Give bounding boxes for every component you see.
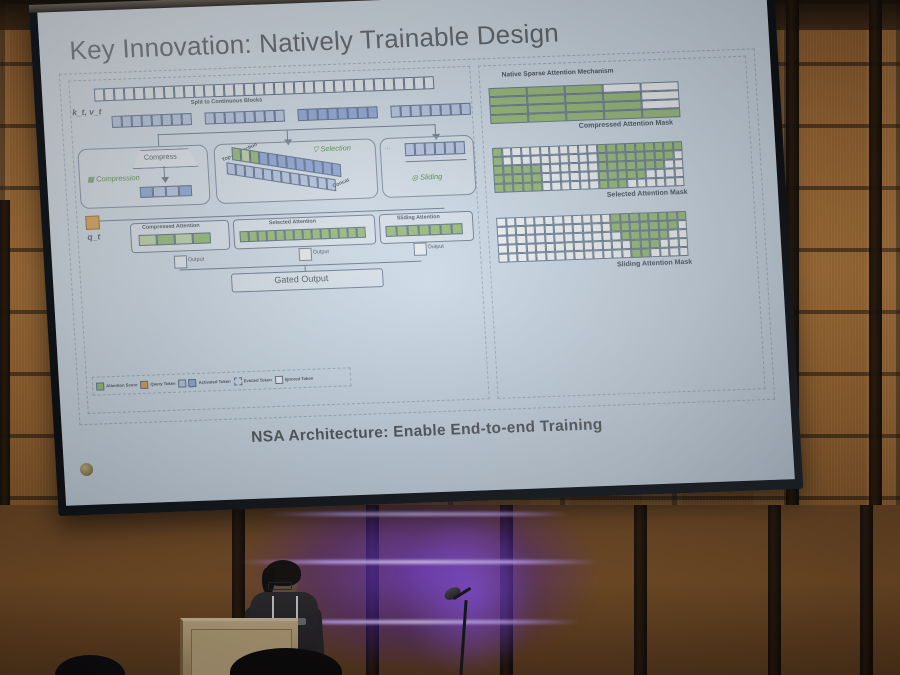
speaker-hair-side: [262, 568, 274, 594]
legend-swatch-orange: [140, 380, 148, 388]
gated-output-label: Gated Output: [274, 273, 329, 285]
compress-node-label: Compress: [144, 152, 177, 162]
query-token: [85, 215, 100, 229]
sliding-label: ◎ Sliding: [411, 172, 442, 182]
led-strip: [268, 512, 568, 516]
attention-mask-panel: Native Sparse Attention Mechanism Compre…: [478, 56, 765, 399]
purple-accent-light-core: [395, 520, 545, 670]
selection-label-text: Selection: [320, 143, 351, 153]
grid-icon: ▦: [87, 175, 95, 184]
block-group-1: [111, 113, 192, 128]
legend-label: Activated Token: [198, 379, 230, 385]
stage-mullion: [768, 505, 781, 675]
split-blocks-label: Split to Continuous Blocks: [191, 97, 263, 106]
legend-swatch-blue-light: [178, 379, 186, 387]
legend-swatch-white: [275, 375, 283, 383]
sliding-attention-mask: [496, 211, 689, 263]
stage-mullion: [634, 505, 647, 675]
bus-line: [158, 124, 436, 135]
figure-container: k_t, v_t Split to Continuous Blocks: [59, 48, 775, 425]
nsa-architecture-diagram: k_t, v_t Split to Continuous Blocks: [68, 66, 489, 414]
mask-panel-heading: Native Sparse Attention Mechanism: [502, 68, 614, 79]
legend-item-attention-score: Attention Score: [96, 381, 138, 390]
legend-label: Evicted Token: [244, 377, 272, 383]
photo-scene: Key Innovation: Natively Trainable Desig…: [0, 0, 900, 675]
legend-swatch-dashed: [233, 377, 241, 385]
block-group-3: [297, 106, 378, 121]
block-group-2: [204, 110, 285, 125]
legend-item-ignored-token: Ignored Token: [275, 374, 314, 383]
compressed-tokens: [140, 185, 193, 198]
legend: Attention Score Query Token Activated To…: [92, 367, 352, 395]
slide-logo-watermark: [80, 463, 94, 476]
target-icon: ◎: [411, 173, 418, 182]
gate-bus: [180, 261, 422, 271]
sliding-mask-label: Sliding Attention Mask: [617, 259, 693, 269]
output-label: Output: [427, 244, 444, 251]
sliding-label-text: Sliding: [420, 172, 443, 182]
arrow-icon: [161, 177, 169, 183]
legend-item-query-token: Query Token: [140, 379, 176, 388]
sliding-window-tokens: [405, 141, 466, 156]
bus-line: [158, 134, 160, 146]
compressed-mask-label: Compressed Attention Mask: [579, 119, 674, 129]
stage-mullion: [860, 505, 873, 675]
legend-swatch-blue: [188, 378, 196, 386]
compressed-attention-mask: [488, 81, 680, 124]
projection-screen-assembly: Key Innovation: Natively Trainable Desig…: [0, 0, 831, 521]
legend-label: Attention Score: [106, 382, 137, 388]
output-node: [174, 255, 188, 268]
selection-label: ▽ Selection: [312, 143, 351, 153]
output-node: [413, 242, 427, 255]
projected-slide: Key Innovation: Natively Trainable Desig…: [37, 0, 795, 506]
eyeglasses-icon: [268, 582, 292, 590]
compression-label: ▦ Compression: [87, 173, 140, 184]
output-node: [298, 248, 312, 261]
legend-item-activated-token: Activated Token: [178, 377, 230, 387]
funnel-icon: ▽: [312, 144, 318, 153]
query-label: q_t: [87, 231, 100, 241]
legend-item-evicted-token: Evicted Token: [233, 376, 272, 385]
block-group-4: [390, 103, 471, 118]
legend-label: Query Token: [150, 381, 176, 387]
legend-label: Ignored Token: [285, 376, 314, 382]
compression-label-text: Compression: [96, 173, 140, 184]
selected-attention-mask: [492, 141, 685, 193]
legend-swatch-green: [96, 382, 104, 390]
kv-input-label: k_t, v_t: [72, 106, 102, 117]
output-label: Output: [313, 249, 330, 256]
output-label: Output: [188, 257, 205, 264]
ellipsis-icon: ···: [385, 146, 391, 152]
selected-mask-label: Selected Attention Mask: [607, 189, 688, 199]
kv-token-strip: [94, 76, 435, 101]
